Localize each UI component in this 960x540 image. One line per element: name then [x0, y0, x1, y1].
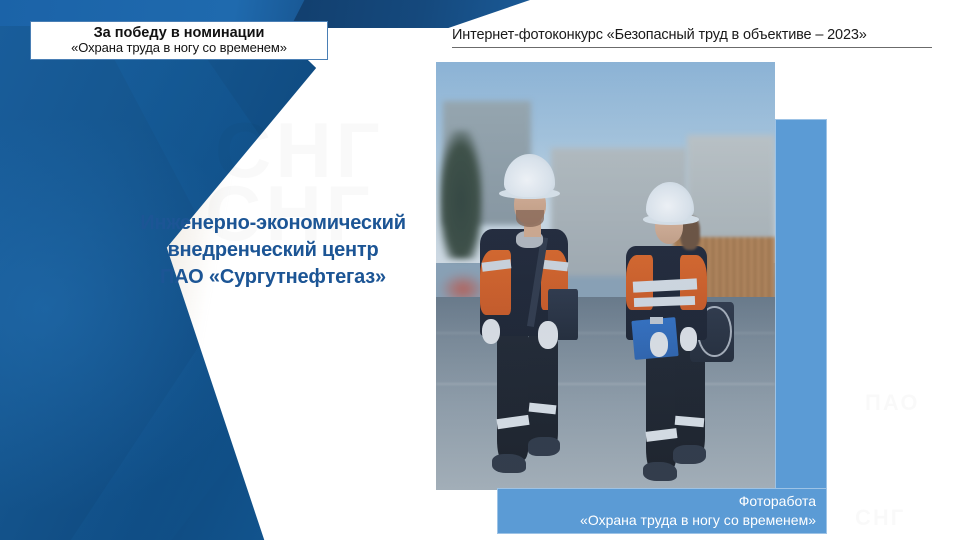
slide-canvas: СНГ СНГ ПАО СНГ За победу в номинации «О…: [0, 0, 960, 540]
contest-header: Интернет-фотоконкурс «Безопасный труд в …: [452, 27, 932, 48]
photo-caption-box: Фоторабота «Охрана труда в ногу со време…: [497, 488, 827, 534]
watermark-text-c: ПАО: [865, 390, 920, 416]
contest-header-text: Интернет-фотоконкурс «Безопасный труд в …: [452, 27, 932, 43]
contest-photo: [436, 62, 775, 490]
organization-line-3: ПАО «Сургутнефтегаз»: [108, 264, 438, 291]
photo-caption-line-1: Фоторабота: [498, 492, 816, 511]
photo-caption-line-2: «Охрана труда в ногу со временем»: [498, 511, 816, 530]
organization-line-1: Инженерно-экономический: [108, 210, 438, 237]
watermark-text-d: СНГ: [855, 505, 905, 531]
organization-name: Инженерно-экономический внедренческий це…: [108, 210, 438, 290]
nomination-title: За победу в номинации: [94, 25, 265, 41]
right-accent-panel: [775, 119, 827, 534]
photo-color-grade: [436, 62, 775, 490]
organization-line-2: внедренческий центр: [108, 237, 438, 264]
contest-header-rule: [452, 47, 932, 48]
nomination-award-box: За победу в номинации «Охрана труда в но…: [30, 21, 328, 60]
nomination-subtitle: «Охрана труда в ногу со временем»: [71, 41, 287, 56]
